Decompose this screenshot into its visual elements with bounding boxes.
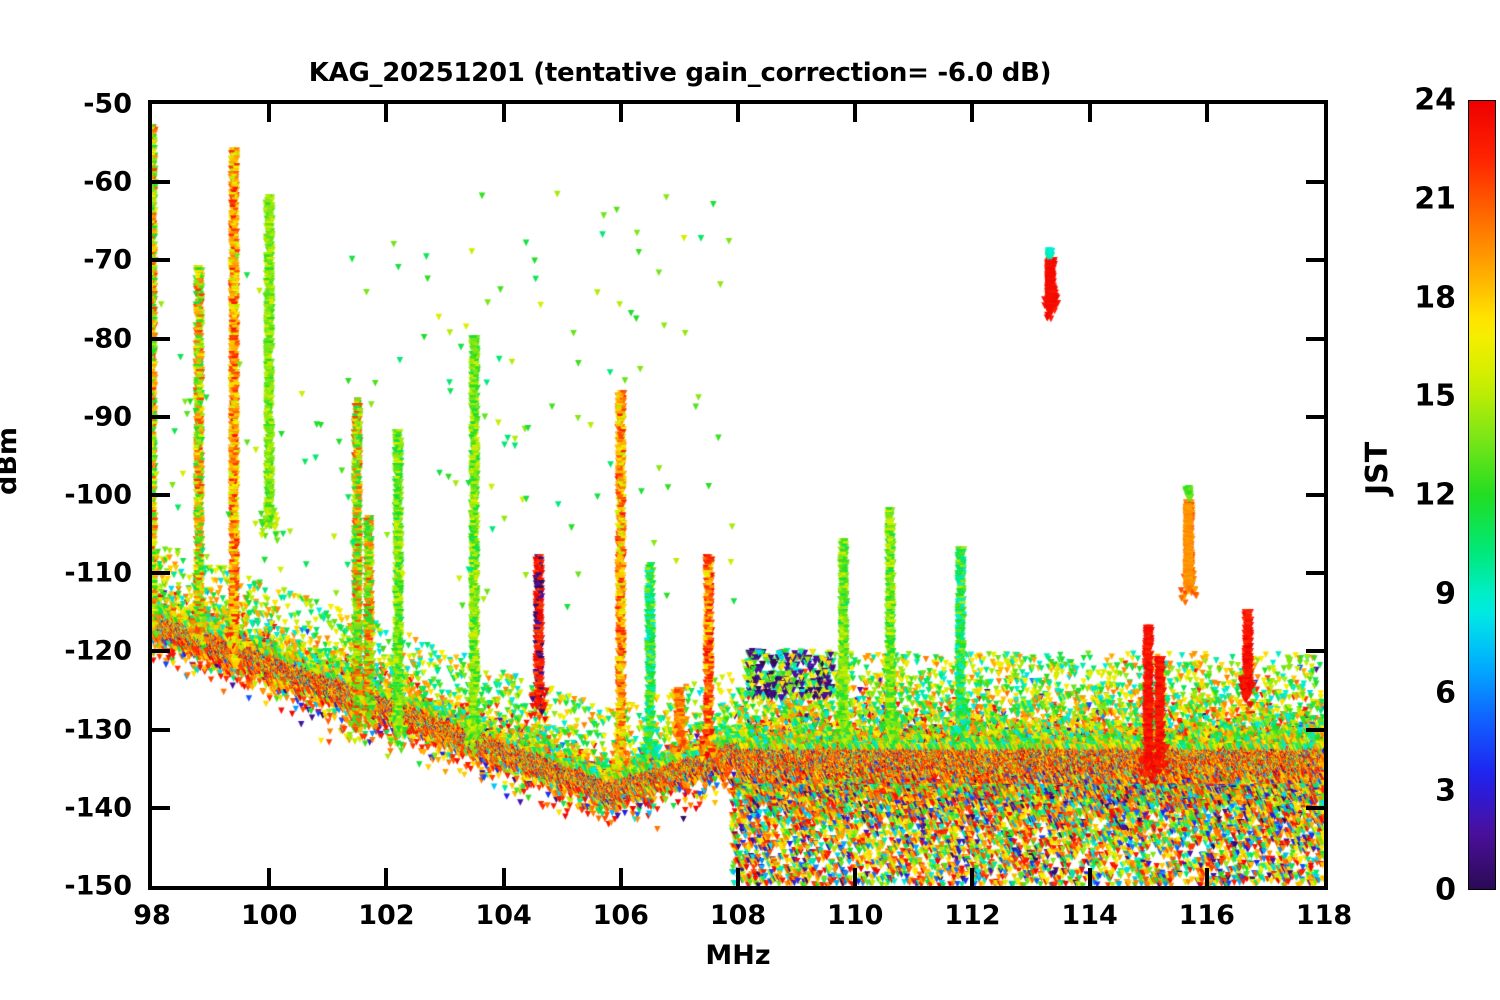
y-tick — [152, 728, 170, 732]
y-tick — [1306, 649, 1324, 653]
colorbar-tick-label: 15 — [1380, 379, 1456, 414]
y-axis-title: dBm — [0, 427, 23, 495]
x-tick — [1205, 868, 1209, 886]
x-tick — [1088, 868, 1092, 886]
colorbar-tick-label: 18 — [1380, 280, 1456, 315]
x-tick — [853, 104, 857, 122]
colorbar-tick-label: 24 — [1380, 83, 1456, 118]
y-tick — [152, 415, 170, 419]
y-tick-label: -70 — [0, 245, 132, 276]
y-tick — [152, 337, 170, 341]
y-tick-label: -50 — [0, 89, 132, 120]
x-tick — [267, 868, 271, 886]
x-tick — [970, 104, 974, 122]
colorbar-tick-label: 6 — [1380, 675, 1456, 710]
x-tick-label: 116 — [1179, 900, 1235, 931]
x-tick — [267, 104, 271, 122]
x-tick — [384, 868, 388, 886]
y-tick-label: -130 — [0, 714, 132, 745]
y-tick — [1306, 337, 1324, 341]
x-tick-label: 102 — [358, 900, 414, 931]
y-tick — [152, 571, 170, 575]
y-tick — [152, 493, 170, 497]
x-tick — [384, 104, 388, 122]
plot-area — [152, 104, 1324, 886]
y-tick-label: -110 — [0, 558, 132, 589]
x-tick — [502, 868, 506, 886]
x-tick — [1088, 104, 1092, 122]
y-tick — [152, 258, 170, 262]
y-tick-label: -120 — [0, 636, 132, 667]
x-tick — [619, 104, 623, 122]
chart-title: KAG_20251201 (tentative gain_correction=… — [0, 58, 1360, 88]
x-tick-label: 104 — [475, 900, 531, 931]
x-tick-label: 106 — [593, 900, 649, 931]
x-tick — [619, 868, 623, 886]
y-tick — [1306, 258, 1324, 262]
y-tick — [1306, 493, 1324, 497]
plot-frame — [148, 100, 1328, 890]
x-tick — [1205, 104, 1209, 122]
colorbar-tick-label: 9 — [1380, 576, 1456, 611]
y-tick — [1306, 728, 1324, 732]
x-tick-label: 108 — [710, 900, 766, 931]
y-tick — [152, 649, 170, 653]
x-tick-label: 110 — [827, 900, 883, 931]
spectrum-scatter-canvas — [152, 104, 1324, 886]
colorbar-tick-label: 21 — [1380, 181, 1456, 216]
x-tick-label: 114 — [1061, 900, 1117, 931]
y-tick-label: -140 — [0, 792, 132, 823]
y-tick — [1306, 180, 1324, 184]
x-tick-label: 112 — [944, 900, 1000, 931]
y-tick-label: -60 — [0, 167, 132, 198]
x-tick — [502, 104, 506, 122]
chart-page: KAG_20251201 (tentative gain_correction=… — [0, 0, 1500, 1000]
y-tick — [152, 806, 170, 810]
x-tick-label: 98 — [133, 900, 171, 931]
y-tick — [152, 180, 170, 184]
x-tick — [970, 868, 974, 886]
y-tick-label: -150 — [0, 871, 132, 902]
y-tick — [1306, 571, 1324, 575]
x-tick — [736, 868, 740, 886]
y-tick — [1306, 415, 1324, 419]
x-tick-label: 118 — [1296, 900, 1352, 931]
colorbar-tick-label: 0 — [1380, 873, 1456, 908]
x-tick — [853, 868, 857, 886]
x-tick-label: 100 — [241, 900, 297, 931]
colorbar-title: JST — [1360, 442, 1395, 495]
y-tick — [1306, 806, 1324, 810]
x-axis-title: MHz — [148, 940, 1328, 971]
x-tick — [736, 104, 740, 122]
colorbar — [1468, 100, 1496, 890]
colorbar-tick-label: 3 — [1380, 774, 1456, 809]
y-tick-label: -80 — [0, 323, 132, 354]
